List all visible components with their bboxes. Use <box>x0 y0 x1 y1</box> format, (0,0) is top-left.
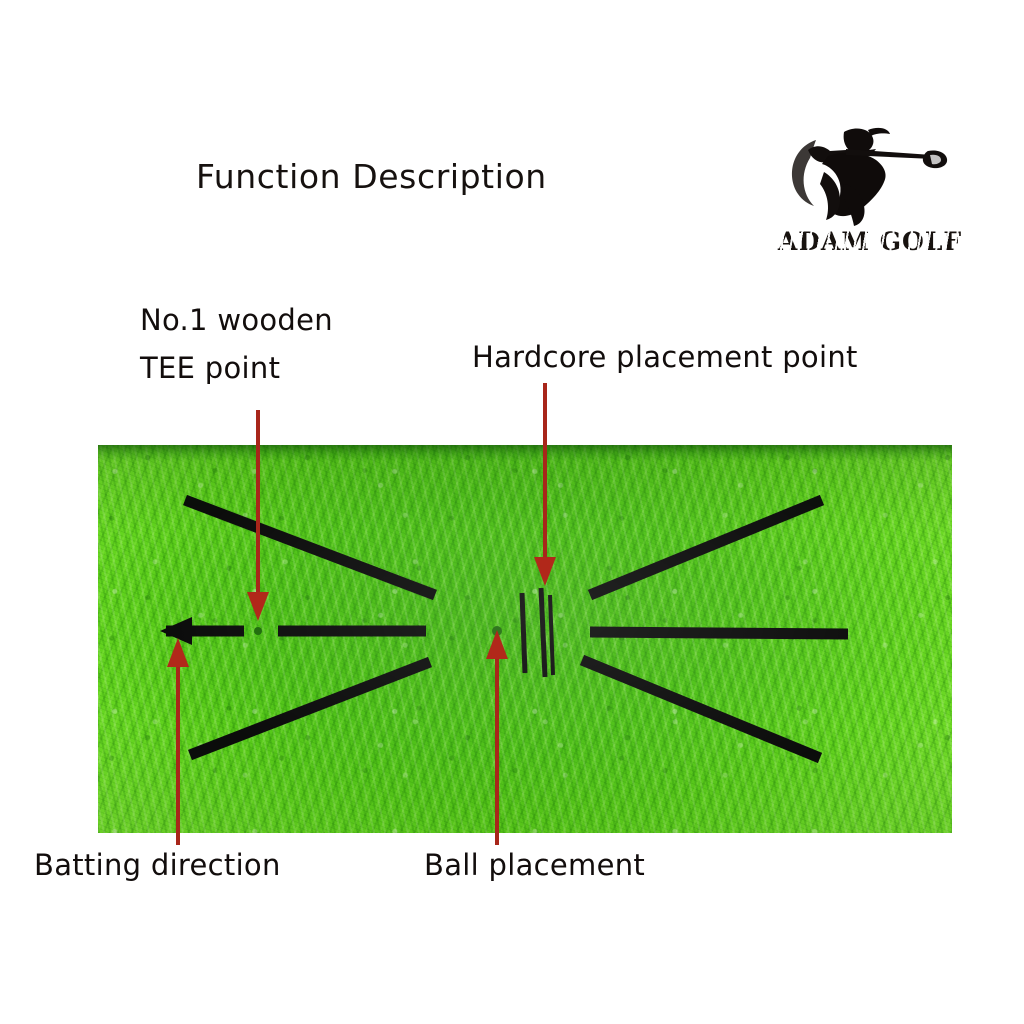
label-tee-point: No.1 wooden TEE point <box>140 303 333 387</box>
golfer-swing-silhouette-icon <box>772 122 968 230</box>
page-title: Function Description <box>196 157 547 196</box>
golf-swing-training-mat <box>98 445 952 833</box>
hardcore-tick-mark-1 <box>522 593 525 673</box>
label-tee-point-line1: No.1 wooden <box>140 303 333 337</box>
batting-direction-arrowhead <box>160 617 192 645</box>
label-ball-placement: Ball placement <box>424 848 645 884</box>
hardcore-tick-mark-2 <box>541 588 545 677</box>
center-horizontal-line-right <box>590 632 848 634</box>
label-hardcore-placement-point: Hardcore placement point <box>472 340 858 376</box>
brand-logo: ADAM GOLF <box>772 122 968 268</box>
mat-alignment-markings <box>98 445 952 833</box>
ball-placement-dot <box>492 626 502 636</box>
tee-point-dot <box>254 627 262 635</box>
label-tee-point-line2: TEE point <box>140 351 333 387</box>
upper-left-diagonal-line <box>185 500 435 595</box>
lower-right-diagonal-line <box>582 660 820 758</box>
lower-left-diagonal-line <box>190 662 430 755</box>
hardcore-tick-mark-3 <box>550 595 553 675</box>
brand-name: ADAM GOLF <box>772 227 968 256</box>
upper-right-diagonal-line <box>590 500 822 595</box>
label-batting-direction: Batting direction <box>34 848 281 884</box>
function-description-diagram: Function Description ADAM GOLF N <box>0 0 1024 1024</box>
